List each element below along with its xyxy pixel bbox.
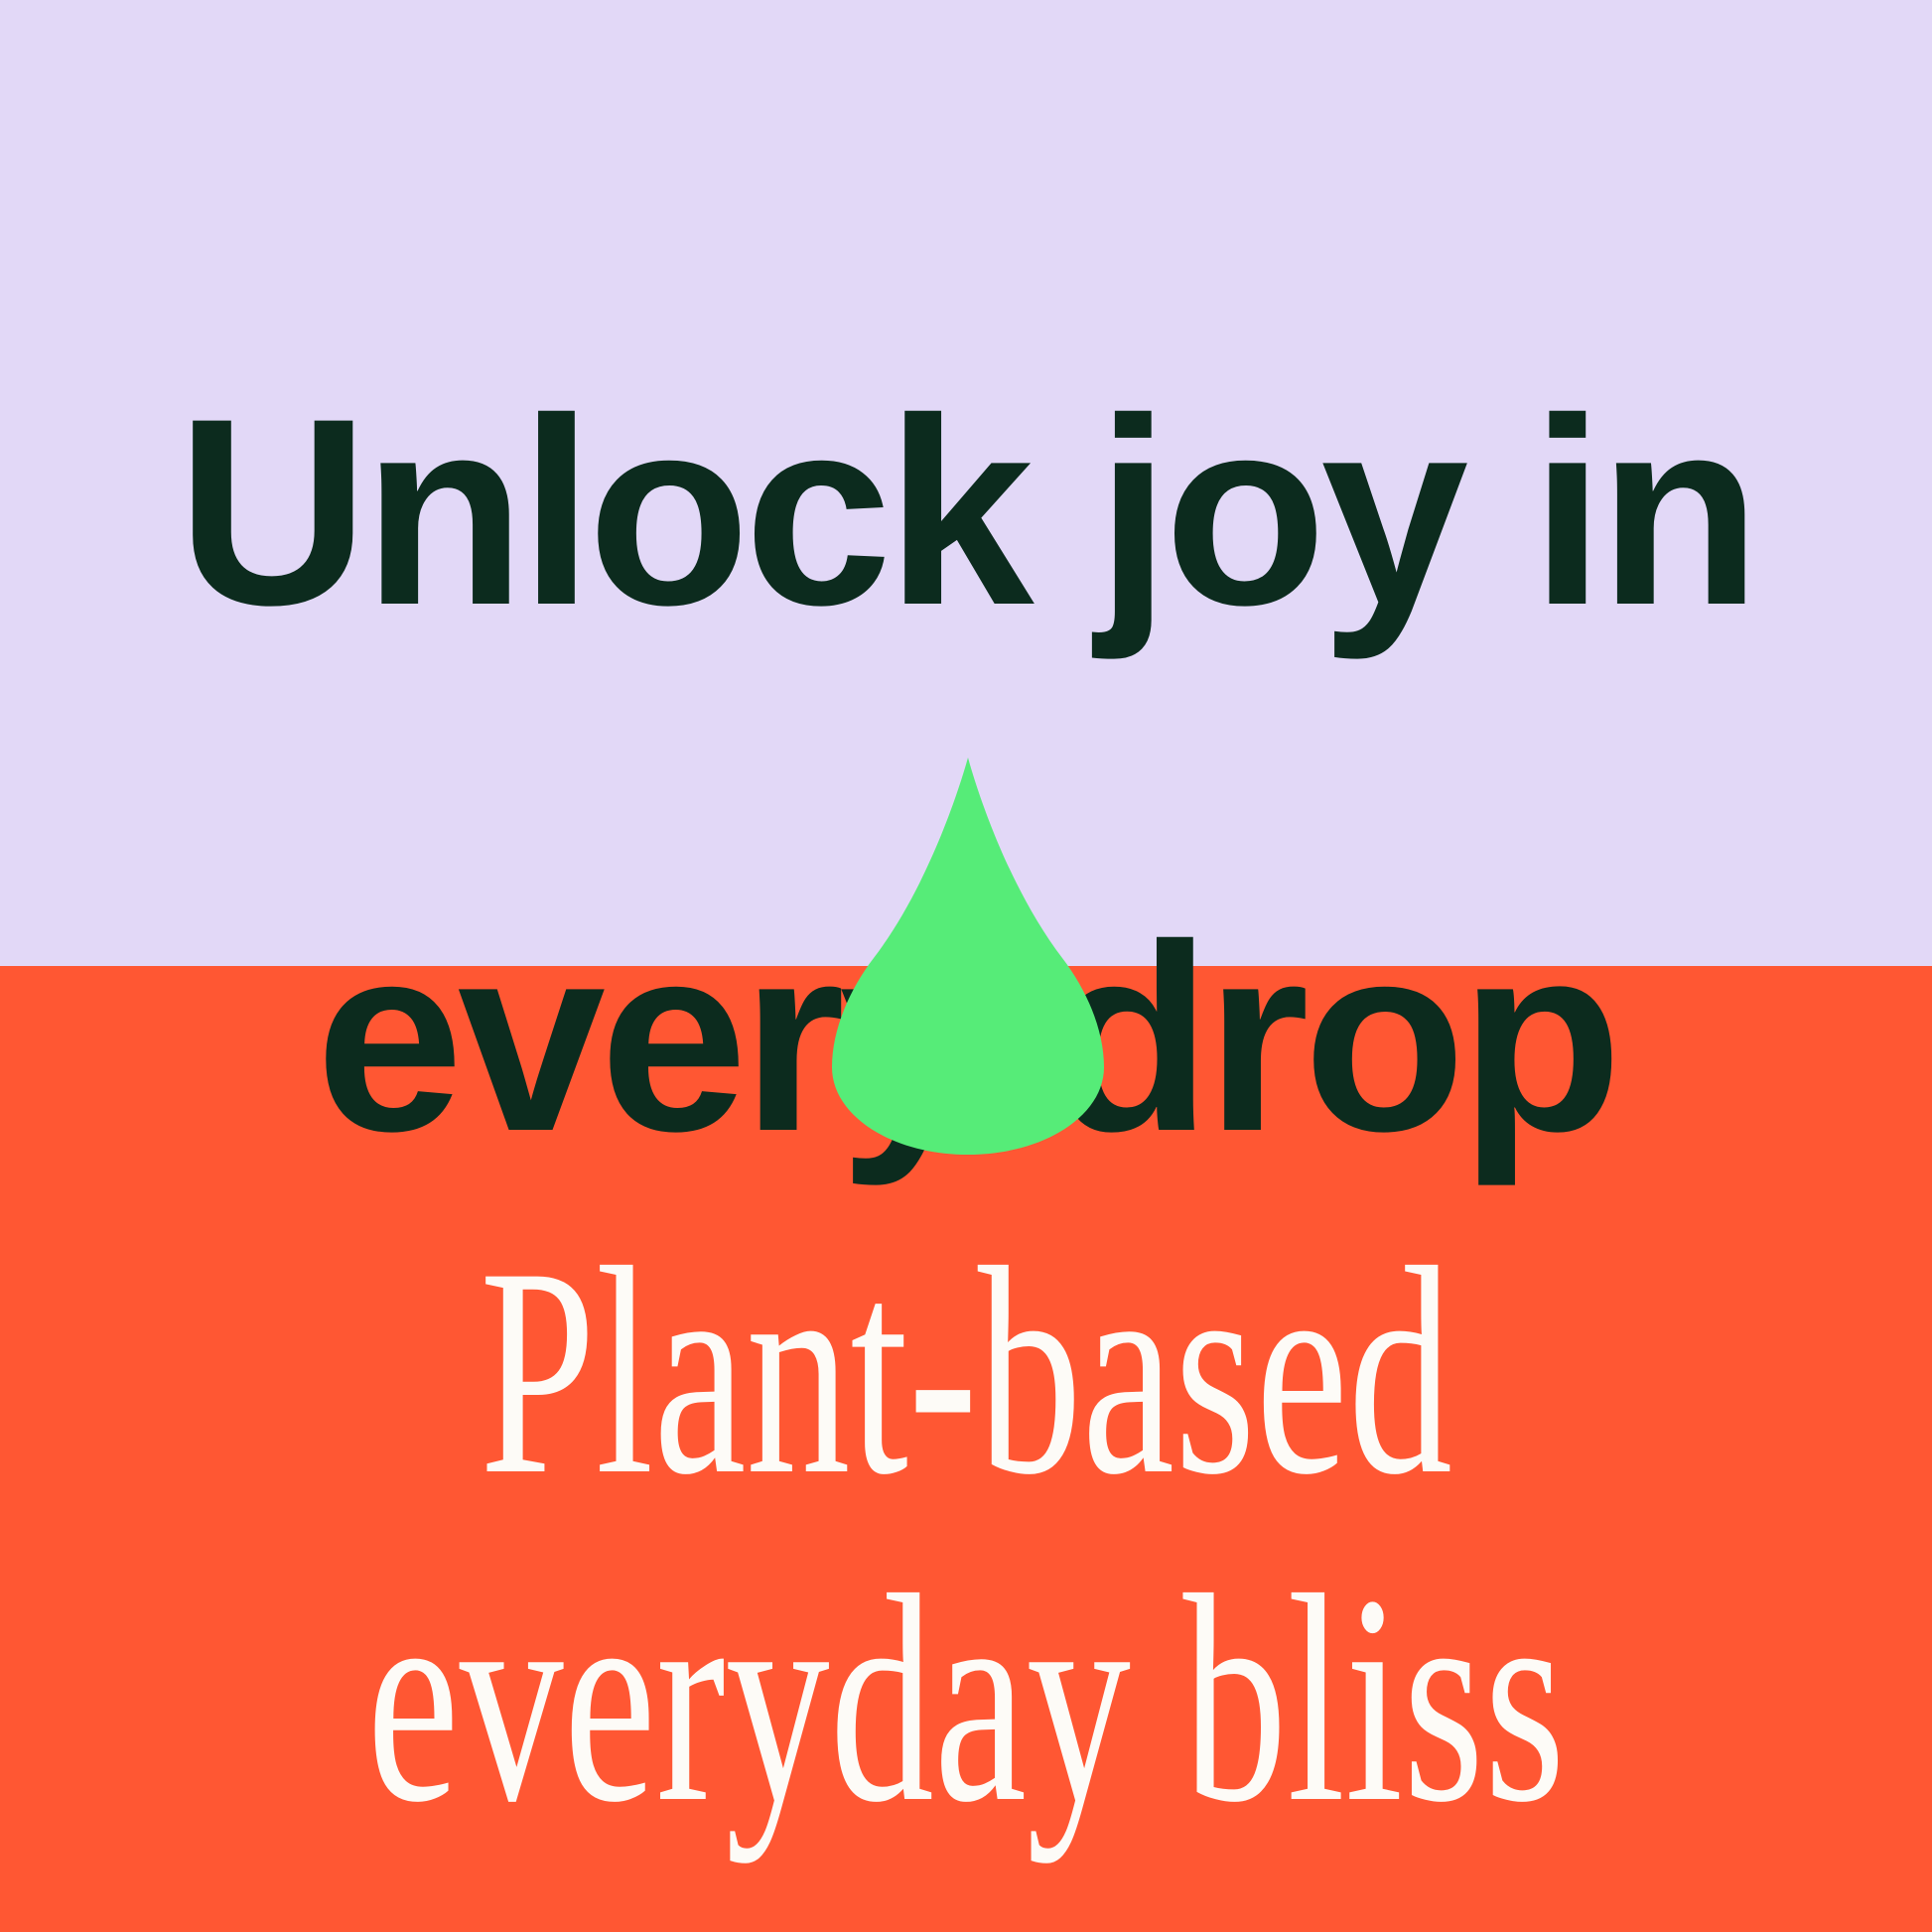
subline-line-2: everyday bliss [290,1535,1642,1863]
headline-line-1: Unlock joy in [0,380,1932,643]
poster-canvas: Unlock joy in every drop Plant-based eve… [0,0,1932,1932]
water-drop-shape [832,758,1104,1155]
subline-line-1: Plant-based [290,1207,1642,1535]
water-drop-icon [832,758,1104,1155]
subline: Plant-based everyday bliss [0,1207,1932,1863]
